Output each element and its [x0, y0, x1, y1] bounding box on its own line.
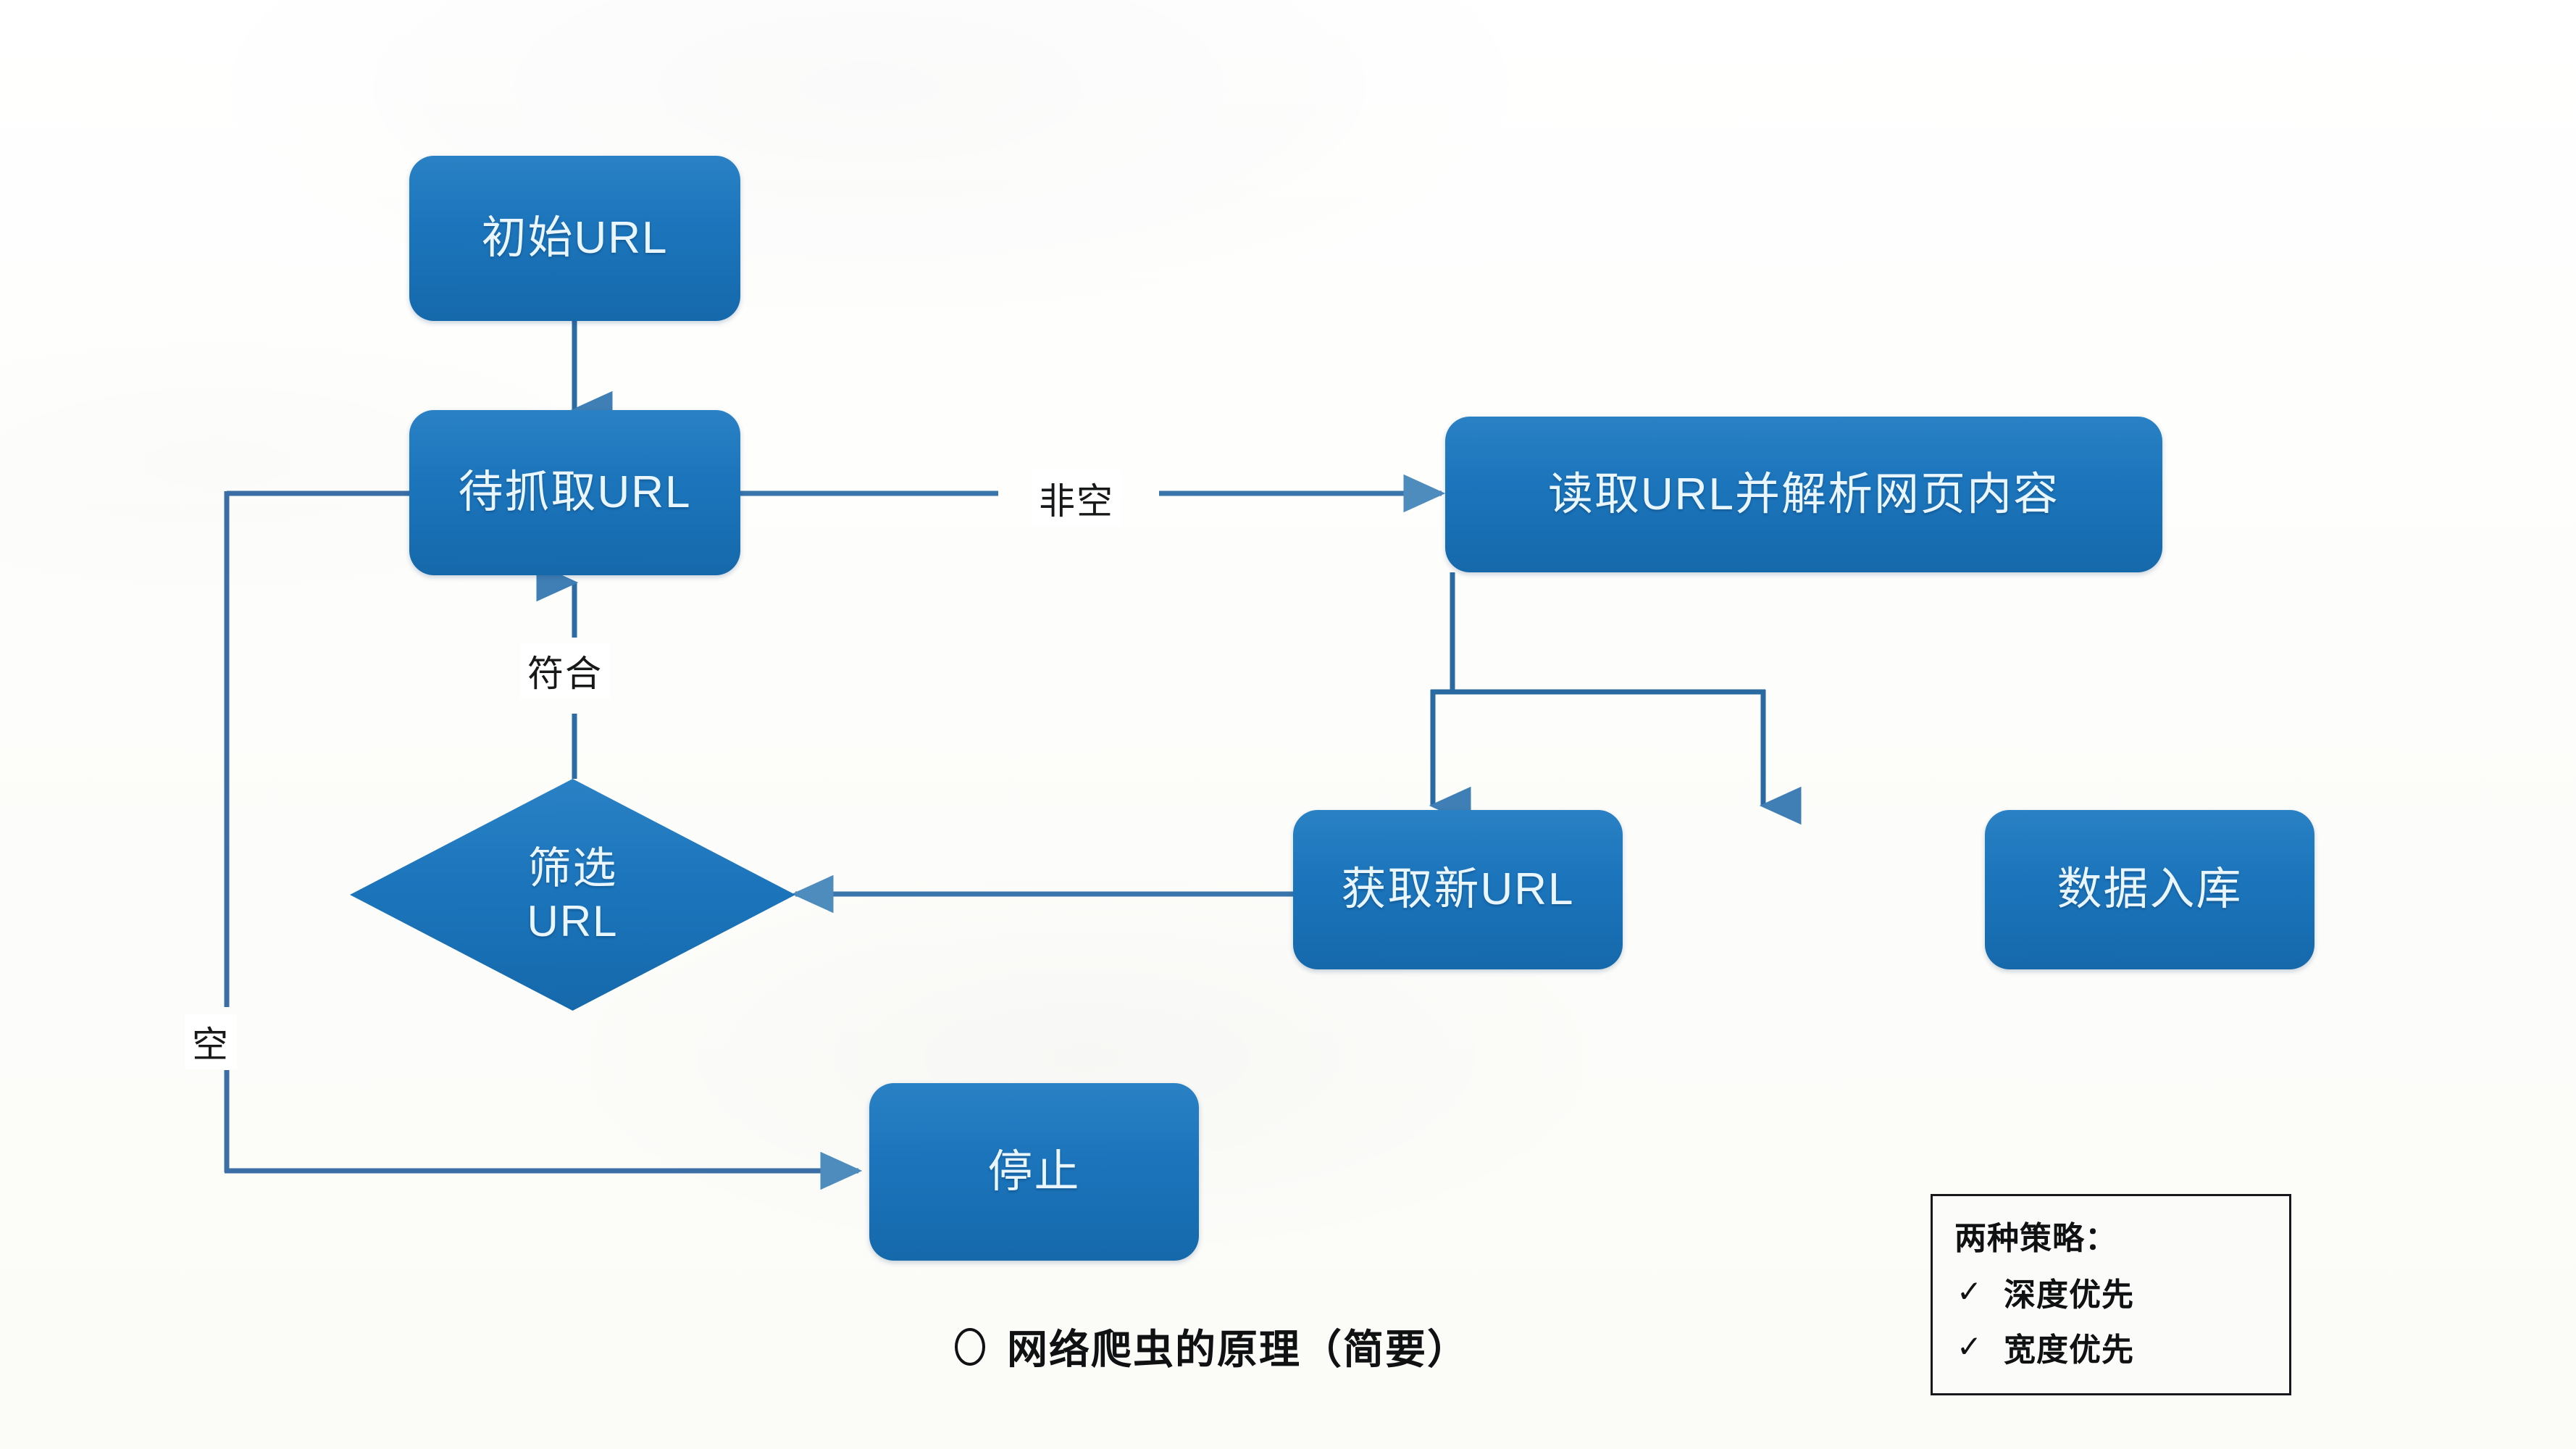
legend-item-depth-first-label: 深度优先	[2004, 1269, 2134, 1315]
diagram-caption: 网络爬虫的原理（简要）	[955, 1317, 1469, 1376]
node-new-url[interactable]: 获取新URL	[1293, 810, 1623, 969]
edge-label-empty: 空	[185, 1014, 237, 1069]
diagram-caption-text: 网络爬虫的原理（简要）	[1007, 1317, 1469, 1376]
node-pending-url-label: 待抓取URL	[458, 465, 691, 520]
node-start-url-label: 初始URL	[481, 211, 668, 266]
node-filter-url-label: 筛选URL	[527, 842, 618, 948]
node-new-url-label: 获取新URL	[1341, 862, 1574, 917]
node-stop[interactable]: 停止	[869, 1083, 1199, 1261]
edge-label-match: 符合	[520, 643, 610, 698]
node-read-parse[interactable]: 读取URL并解析网页内容	[1445, 417, 2162, 572]
edge-label-non-empty: 非空	[1032, 471, 1121, 526]
edge-read-branch	[1431, 572, 1765, 806]
legend-item-breadth-first: ✓ 宽度优先	[1954, 1324, 2270, 1370]
node-pending-url[interactable]: 待抓取URL	[409, 410, 740, 575]
node-stop-label: 停止	[987, 1145, 1080, 1200]
hollow-circle-icon	[955, 1328, 985, 1366]
check-icon: ✓	[1954, 1277, 1985, 1307]
check-icon: ✓	[1954, 1332, 1985, 1362]
legend-box: 两种策略： ✓ 深度优先 ✓ 宽度优先	[1931, 1194, 2291, 1395]
node-read-parse-label: 读取URL并解析网页内容	[1548, 467, 2059, 522]
legend-item-breadth-first-label: 宽度优先	[2004, 1324, 2134, 1370]
node-store-data[interactable]: 数据入库	[1985, 810, 2314, 969]
node-store-data-label: 数据入库	[2057, 862, 2242, 917]
flowchart-canvas: 初始URL 待抓取URL 读取URL并解析网页内容 筛选URL 获取新URL 数…	[0, 0, 2576, 1449]
legend-title: 两种策略：	[1954, 1212, 2270, 1258]
legend-item-depth-first: ✓ 深度优先	[1954, 1269, 2270, 1315]
node-start-url[interactable]: 初始URL	[409, 156, 740, 321]
